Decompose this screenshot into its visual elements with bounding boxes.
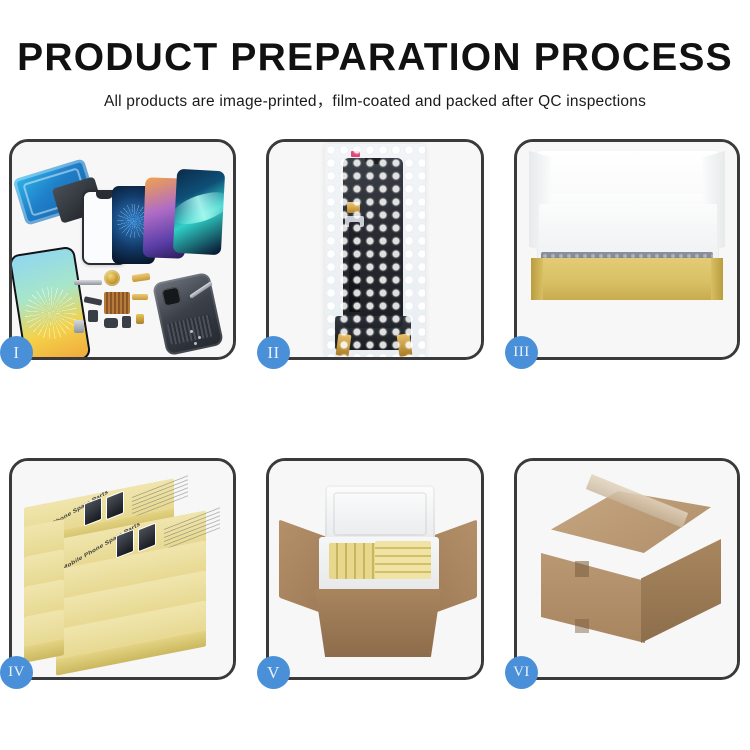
step-image-3 [517, 142, 737, 357]
carton-handle-cut-bottom [575, 619, 589, 633]
open-carton-graphic [283, 485, 473, 657]
lcd-gold-contact-graphic [347, 202, 360, 213]
sealed-carton-graphic [541, 491, 721, 651]
step-badge-6: VI [505, 656, 538, 689]
screw-graphic-2 [198, 336, 201, 339]
teal-phone-graphic [173, 169, 225, 255]
carton-handle-cut-top [575, 561, 589, 577]
screw-graphic-1 [190, 330, 193, 333]
lcd-flex-cable-graphic [349, 222, 360, 312]
phone-back-housing-graphic [152, 272, 224, 356]
earpiece-mesh-graphic [74, 280, 102, 285]
step-badge-1: I [0, 336, 33, 369]
box-stack-graphic: Mobile Phone Spare Parts Mobile Phone Sp… [18, 479, 230, 669]
yellow-boxes-graphic-b [375, 541, 431, 579]
ic-chip-graphic [104, 292, 130, 314]
process-step-grid: I II [0, 0, 750, 750]
vibration-motor-graphic [104, 270, 120, 286]
step-badge-5: V [257, 656, 290, 689]
step-panel-4: Mobile Phone Spare Parts Mobile Phone Sp… [9, 458, 236, 680]
carton-front-face [541, 543, 645, 643]
step-panel-3: III [514, 139, 740, 360]
step-image-6 [517, 461, 737, 677]
step-image-5 [269, 461, 481, 677]
small-part-graphic-1 [84, 296, 103, 306]
step-badge-2: II [257, 336, 290, 369]
kraft-tray-graphic [531, 258, 723, 300]
small-part-graphic-2 [88, 310, 98, 322]
small-part-graphic-5 [136, 314, 144, 324]
step-image-4: Mobile Phone Spare Parts Mobile Phone Sp… [12, 461, 233, 677]
step-badge-4: IV [0, 656, 33, 689]
step-panel-2: II [266, 139, 484, 360]
step-image-2 [269, 142, 481, 357]
step-panel-1: I [9, 139, 236, 360]
lcd-gold-tab-left [336, 333, 352, 357]
step-image-1 [12, 142, 233, 357]
carton-side-face [641, 539, 721, 643]
small-part-graphic-3 [104, 318, 118, 328]
tray-end-right-graphic [711, 258, 723, 300]
notch-graphic [365, 158, 382, 164]
step-panel-6: VI [514, 458, 740, 680]
step-panel-5: V [266, 458, 484, 680]
screw-graphic-3 [194, 342, 197, 345]
qc-sticker-graphic [351, 151, 360, 157]
product-preparation-infographic: PRODUCT PREPARATION PROCESS All products… [0, 0, 750, 750]
crack-pattern-large [21, 283, 80, 342]
carton-body-graphic [315, 589, 441, 657]
flex-cable-graphic-2 [132, 294, 148, 300]
tray-end-left-graphic [531, 258, 543, 300]
small-part-graphic-4 [122, 316, 131, 328]
flex-cable-graphic-1 [132, 273, 151, 282]
sim-tray-graphic [74, 320, 84, 333]
camera-module-graphic [161, 286, 181, 306]
parts-assortment-scene [12, 142, 233, 357]
swoosh-highlight [173, 186, 225, 231]
step-badge-3: III [505, 336, 538, 369]
bubble-wrap-pouch-graphic [325, 144, 425, 357]
foam-box-lid-graphic [325, 485, 435, 543]
